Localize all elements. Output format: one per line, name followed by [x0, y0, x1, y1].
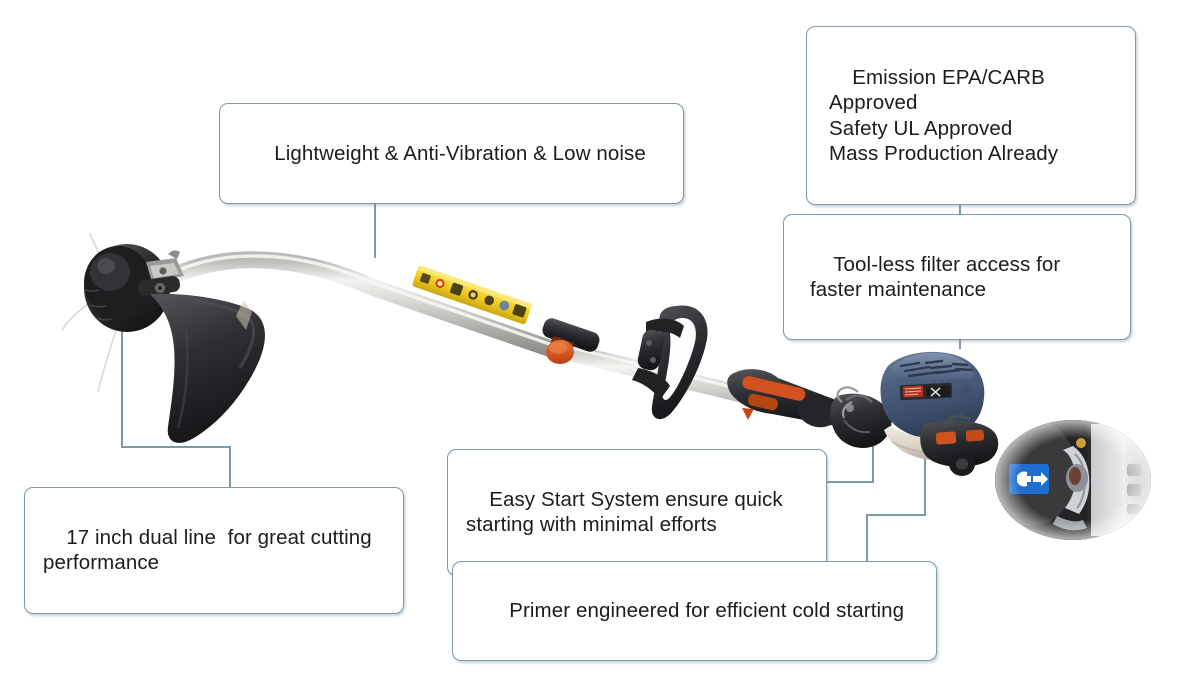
shaft-coupler-knob: [540, 316, 601, 364]
trimmer-head: [84, 244, 265, 443]
callout-emission-text: Emission EPA/CARB Approved Safety UL App…: [829, 66, 1058, 166]
connector-primer-h: [866, 514, 926, 516]
vent-slots: [901, 361, 972, 376]
callout-emission: Emission EPA/CARB Approved Safety UL App…: [806, 26, 1136, 205]
connector-head-to-cutting-v2: [229, 446, 231, 489]
callout-toolless-filter: Tool-less filter access for faster maint…: [783, 214, 1131, 340]
connector-head-to-cutting-h: [121, 446, 231, 448]
shaft-warning-decal: [412, 265, 533, 325]
connector-primer-v2: [924, 452, 926, 515]
callout-primer-text: Primer engineered for efficient cold sta…: [509, 599, 904, 622]
curved-shaft: [150, 260, 560, 352]
callout-primer: Primer engineered for efficient cold sta…: [452, 561, 937, 661]
lower-shaft: [556, 349, 848, 420]
air-filter-cover: [920, 416, 998, 476]
debris-guard: [150, 294, 265, 443]
callout-lightweight: Lightweight & Anti-Vibration & Low noise: [219, 103, 684, 204]
closeup-photo-toolless-filter: [995, 420, 1151, 540]
trimmer-line: [62, 233, 120, 392]
d-loop-handle: [632, 305, 708, 419]
connector-easystart-h: [825, 481, 874, 483]
fuel-tank: [884, 426, 982, 460]
harness-hook: [837, 387, 858, 418]
head-bracket: [137, 250, 184, 296]
engine-label: [900, 383, 953, 401]
callout-easy-start-text: Easy Start System ensure quick starting …: [466, 488, 783, 537]
engine-housing: [881, 352, 985, 439]
throttle-grip: [727, 369, 845, 431]
callout-easy-start: Easy Start System ensure quick starting …: [447, 449, 827, 576]
product-feature-diagram: Emission EPA/CARB Approved Safety UL App…: [0, 0, 1200, 675]
callout-dual-line: 17 inch dual line for great cutting perf…: [24, 487, 404, 614]
connector-head-to-cutting-v1: [121, 315, 123, 447]
connector-easystart-v: [872, 406, 874, 483]
callout-dual-line-text: 17 inch dual line for great cutting perf…: [43, 526, 372, 575]
connector-primer-v1: [866, 516, 868, 563]
callout-toolless-filter-text: Tool-less filter access for faster maint…: [810, 253, 1060, 302]
callout-lightweight-text: Lightweight & Anti-Vibration & Low noise: [274, 142, 646, 165]
engine-joint: [831, 394, 892, 448]
